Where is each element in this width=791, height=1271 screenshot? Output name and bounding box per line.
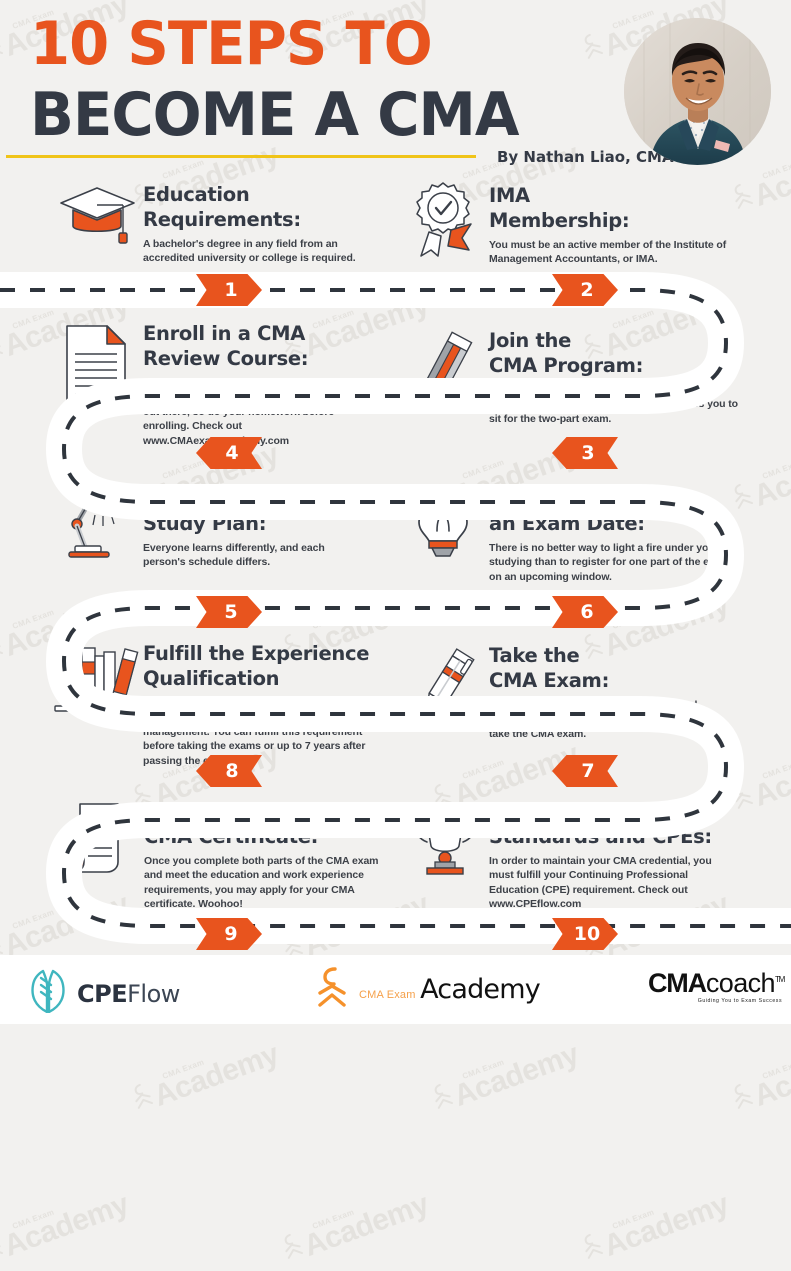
logo-academy-big-text: Academy xyxy=(420,974,540,1005)
logo-cmacoach-tagline: Guiding You to Exam Success xyxy=(648,998,784,1004)
watermark-tile: CMA ExamAcademy xyxy=(597,1179,734,1264)
logo-cmacoach-text: CMAcoachTM xyxy=(648,970,784,997)
watermark-tile: CMA ExamAcademy xyxy=(297,1179,434,1264)
logo-cma-exam-academy[interactable]: CMA Exam Academy xyxy=(315,965,540,1014)
footer: CPEFlow CMA Exam Academy CMAcoachTM Guid… xyxy=(0,955,791,1024)
academy-person-icon xyxy=(315,965,349,1014)
leaf-icon xyxy=(28,969,68,1018)
watermark-tile: CMA ExamAcademy xyxy=(747,1029,791,1114)
page-title-line-1: 10 STEPS TO xyxy=(30,14,432,74)
watermark-tile: CMA ExamAcademy xyxy=(147,1029,284,1114)
road-path xyxy=(0,175,791,955)
logo-cpeflow-text: CPEFlow xyxy=(77,980,180,1008)
watermark-tile: CMA ExamAcademy xyxy=(0,1179,133,1264)
logo-academy-small-text: CMA Exam xyxy=(359,989,416,1001)
logo-cmacoach[interactable]: CMAcoachTM Guiding You to Exam Success xyxy=(648,970,784,1004)
page-title-line-2: BECOME A CMA xyxy=(30,85,518,145)
byline: By Nathan Liao, CMA xyxy=(497,148,674,166)
header: 10 STEPS TO BECOME A CMA By Nathan Liao,… xyxy=(0,0,791,175)
logo-cpeflow[interactable]: CPEFlow xyxy=(28,969,180,1018)
watermark-tile: CMA ExamAcademy xyxy=(447,1029,584,1114)
title-underline-rule xyxy=(6,155,476,158)
portrait-avatar xyxy=(624,18,771,165)
